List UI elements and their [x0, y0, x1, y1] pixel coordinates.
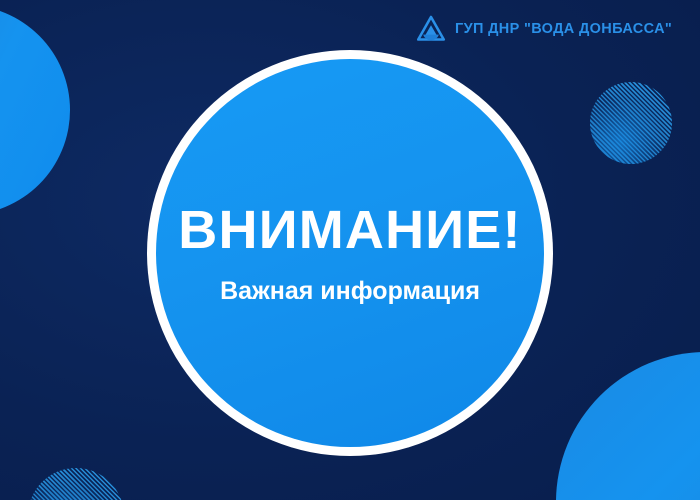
headline-text: ВНИМАНИЕ!: [178, 203, 521, 257]
decorative-striped-sphere-top-right: [590, 82, 672, 164]
brand-name: ГУП ДНР "ВОДА ДОНБАССА": [455, 22, 672, 37]
brand-lockup: ГУП ДНР "ВОДА ДОНБАССА": [416, 14, 672, 44]
attention-badge: ВНИМАНИЕ! Важная информация: [147, 50, 553, 456]
subheadline-text: Важная информация: [220, 279, 480, 304]
attention-badge-inner: ВНИМАНИЕ! Важная информация: [156, 59, 544, 447]
announcement-banner: ГУП ДНР "ВОДА ДОНБАССА" ВНИМАНИЕ! Важная…: [0, 0, 700, 500]
triangle-water-logo-icon: [416, 14, 446, 44]
